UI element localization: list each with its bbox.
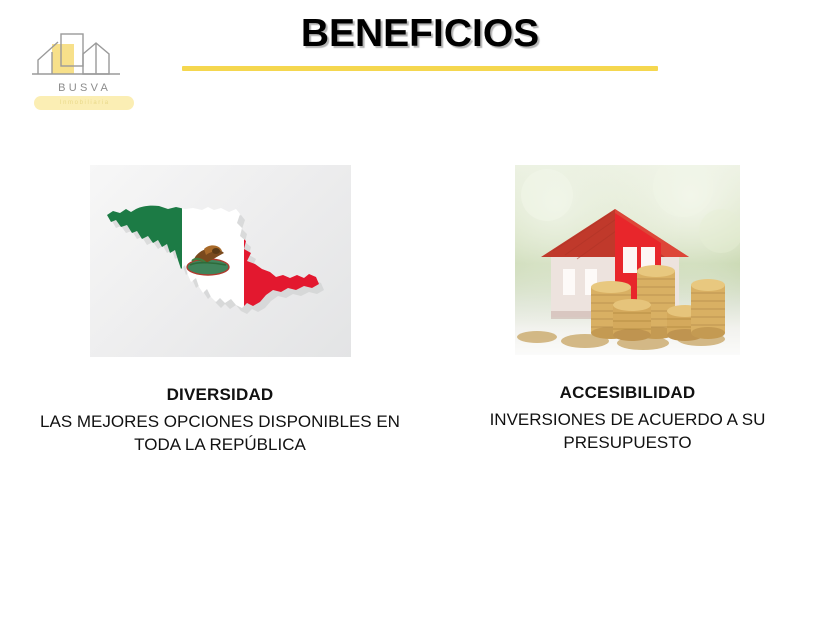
page-title: BENEFICIOS — [180, 12, 660, 56]
benefit-heading-accesibilidad: ACCESIBILIDAD — [430, 382, 825, 403]
title-underline-rule — [182, 66, 658, 71]
logo-tagline: Inmobiliaria — [34, 96, 134, 110]
logo-wordmark: BUSVA — [28, 82, 138, 94]
slide-canvas: BUSVA Inmobiliaria BENEFICIOS — [0, 0, 840, 630]
house-with-coin-stacks-image — [515, 165, 740, 355]
benefit-column-accesibilidad: ACCESIBILIDAD INVERSIONES DE ACUERDO A S… — [430, 165, 825, 454]
benefit-body-diversidad: LAS MEJORES OPCIONES DISPONIBLES EN TODA… — [15, 410, 425, 456]
benefit-body-accesibilidad: INVERSIONES DE ACUERDO A SU PRESUPUESTO — [430, 408, 825, 454]
mexico-map-flag-image — [90, 165, 351, 357]
logo-tagline-highlight: Inmobiliaria — [34, 96, 134, 110]
benefit-heading-diversidad: DIVERSIDAD — [15, 384, 425, 405]
benefit-column-diversidad: DIVERSIDAD LAS MEJORES OPCIONES DISPONIB… — [15, 165, 425, 456]
busva-logo: BUSVA Inmobiliaria — [28, 30, 138, 110]
busva-building-logo-icon — [28, 30, 138, 82]
